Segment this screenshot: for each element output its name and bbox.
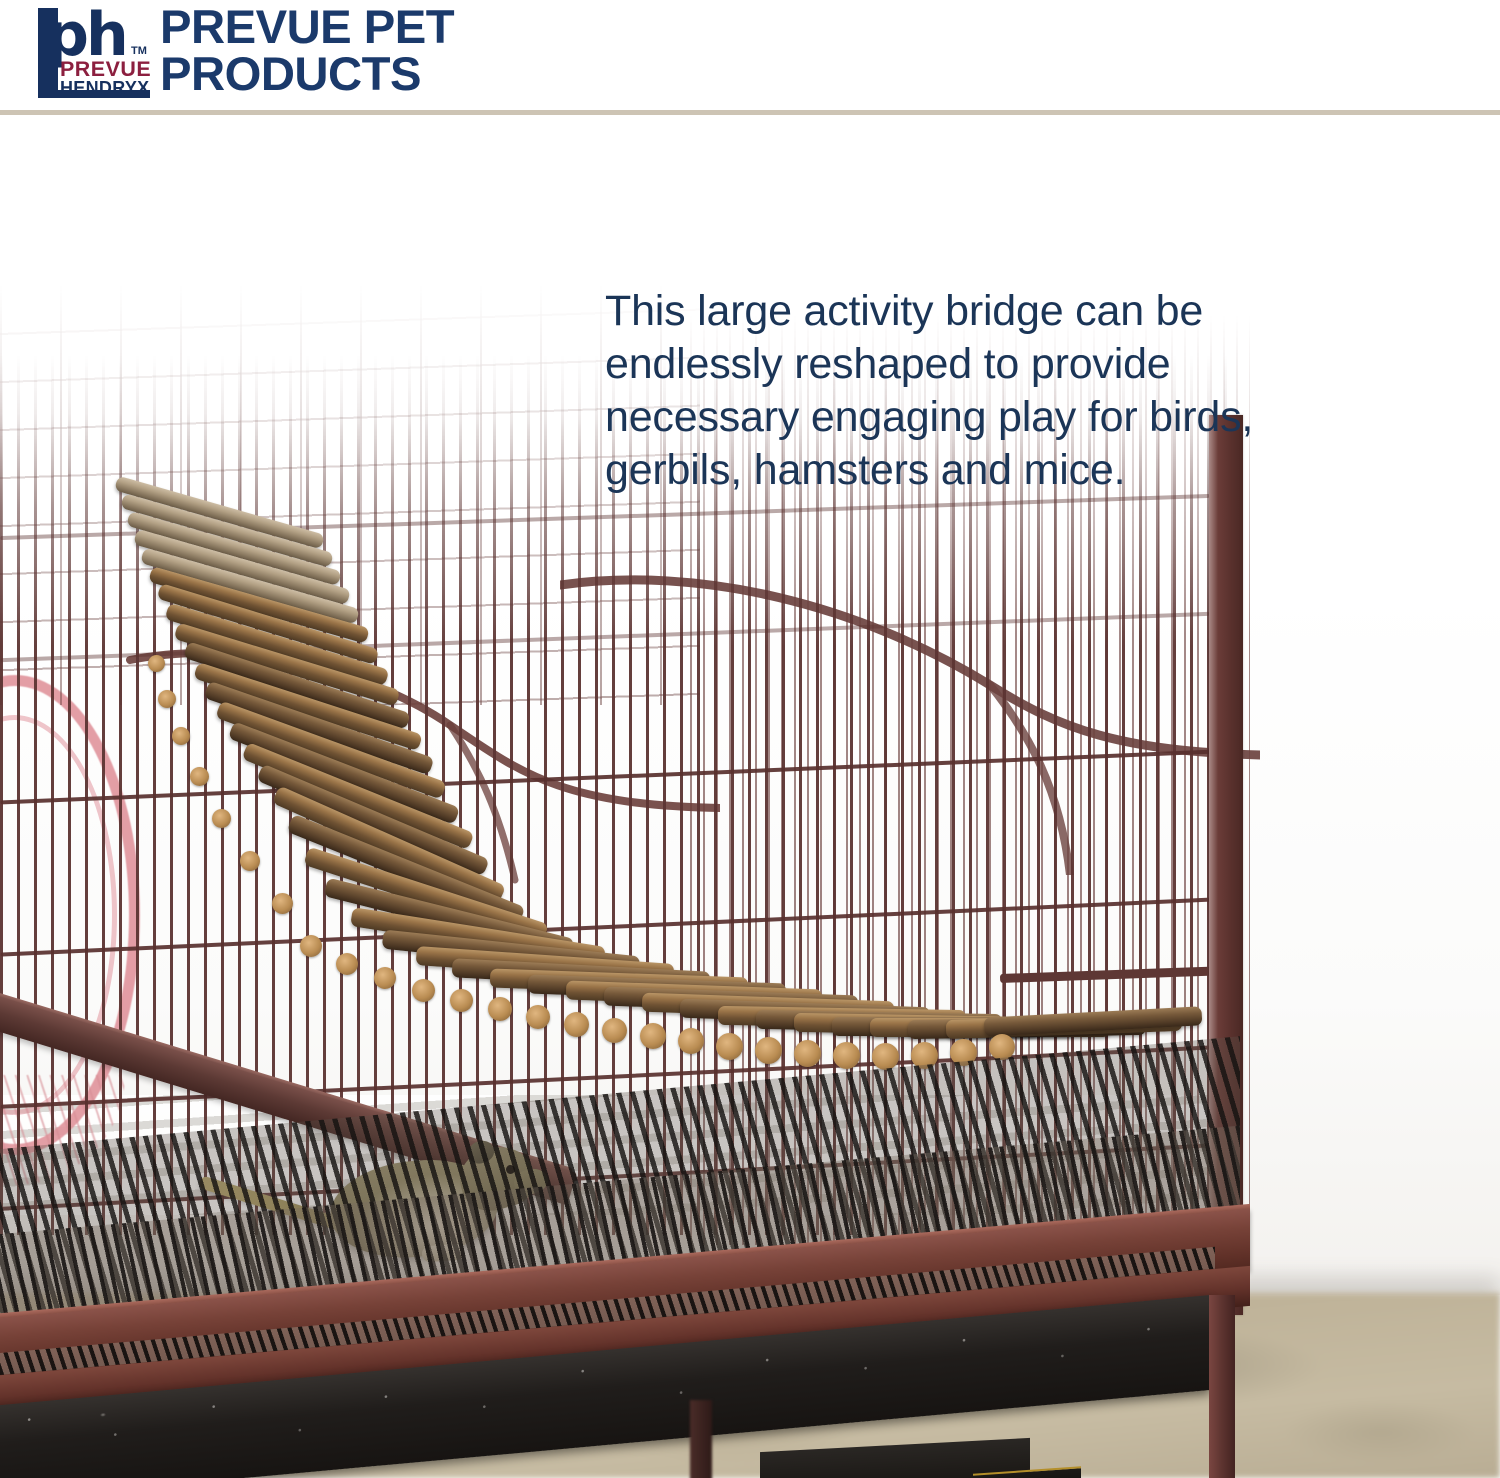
- prevue-hendryx-logo: ph TM PREVUE HENDRYX: [38, 6, 150, 98]
- brand-title: PREVUE PET PRODUCTS: [160, 4, 454, 97]
- logo-brand-hendryx: HENDRYX: [60, 79, 149, 97]
- logo-brand-prevue: PREVUE: [60, 59, 151, 80]
- brand-header: ph TM PREVUE HENDRYX PREVUE PET PRODUCTS: [0, 0, 1500, 113]
- trademark-icon: TM: [131, 45, 147, 57]
- logo-monogram: ph: [46, 6, 126, 64]
- marketing-headline: This large activity bridge can be endles…: [605, 285, 1375, 497]
- stand-leg-right: [1209, 1295, 1235, 1478]
- stand-leg-center: [690, 1400, 712, 1478]
- product-image-page: ph TM PREVUE HENDRYX PREVUE PET PRODUCTS: [0, 0, 1500, 1478]
- product-photo: PREVUE PREVUE This large activity bridge…: [0, 115, 1500, 1478]
